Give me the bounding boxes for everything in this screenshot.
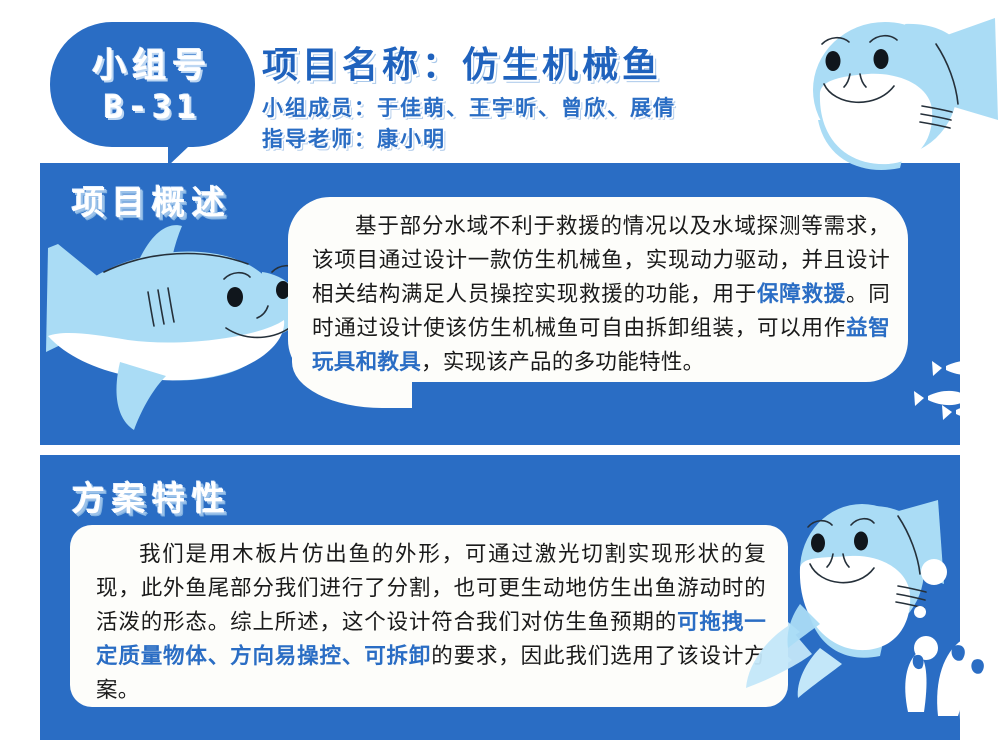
fish-school-icon [914, 361, 1000, 420]
poster-canvas: .skin { fill: #aadcf5; } .skin2 { fill: … [0, 0, 1000, 750]
page-title: 项目名称：仿生机械鱼 [262, 36, 662, 88]
paragraph-text: ，实现该产品的多功能特性。 [421, 350, 704, 375]
members-line: 小组成员：于佳萌、王宇昕、曾欣、展倩 [262, 92, 676, 122]
group-code: B-31 [50, 88, 255, 126]
bubbles-icon [914, 559, 947, 660]
shark-overview-icon [46, 225, 301, 430]
section-heading-overview: 项目概述 [72, 176, 232, 224]
teacher-line: 指导老师：康小明 [262, 123, 446, 153]
features-paragraph: 我们是用木板片仿出鱼的外形，可通过激光切割实现形状的复现，此外鱼尾部分我们进行了… [96, 538, 766, 708]
group-label: 小组号 [50, 38, 255, 87]
seaweed-icon [905, 640, 986, 720]
highlighted-phrase: 保障救援 [757, 282, 846, 307]
group-number-bubble: 小组号 B-31 [50, 22, 255, 147]
section-heading-features: 方案特性 [72, 472, 232, 520]
overview-paragraph: 基于部分水域不利于救援的情况以及水域探测等需求，该项目通过设计一款仿生机械鱼，实… [312, 210, 890, 380]
paragraph-text: 我们是用木板片仿出鱼的外形，可通过激光切割实现形状的复现，此外鱼尾部分我们进行了… [96, 542, 766, 635]
